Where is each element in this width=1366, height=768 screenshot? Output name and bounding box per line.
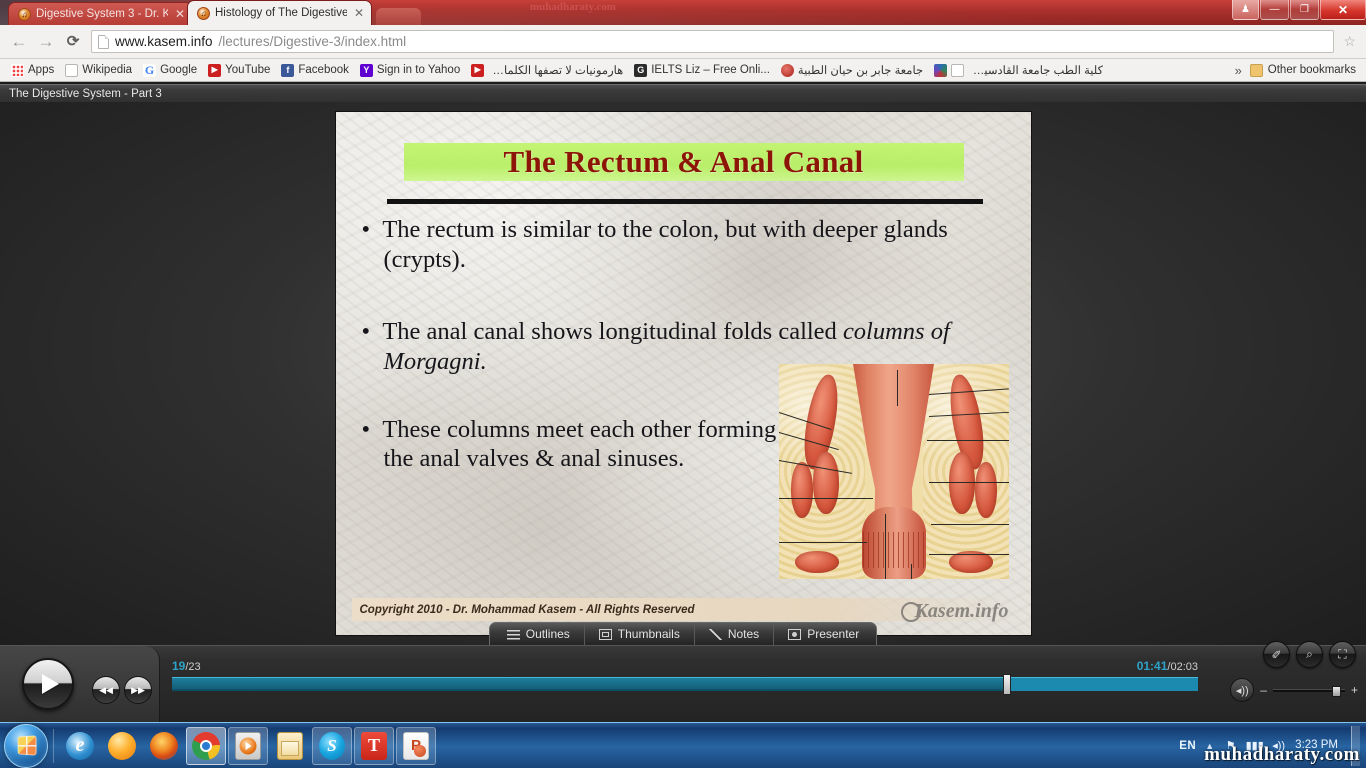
columns-of-morgagni xyxy=(863,532,925,568)
tab-label: Notes xyxy=(728,627,759,641)
leader-line xyxy=(911,564,912,579)
tab-presenter[interactable]: Presenter xyxy=(774,623,873,645)
window-controls: ♟ — ❐ ✕ xyxy=(1231,0,1366,20)
reload-icon[interactable]: ⟳ xyxy=(64,33,82,51)
apps-grid-icon xyxy=(11,64,24,77)
tab-favicon: ♫ xyxy=(18,8,31,21)
volume-down-icon[interactable]: – xyxy=(1260,684,1267,696)
slide-total: /23 xyxy=(185,661,200,673)
address-bar[interactable]: www.kasem.info/lectures/Digestive-3/inde… xyxy=(91,30,1334,53)
volume-control: ◂)) – + xyxy=(1230,678,1358,702)
browser-tab-2[interactable]: ♫ Histology of The Digestive ✕ xyxy=(187,0,372,25)
leader-line xyxy=(931,524,1009,525)
multicolor-icon xyxy=(934,64,947,77)
bookmark-label: Google xyxy=(160,64,197,76)
bullet-1: The rectum is similar to the colon, but … xyxy=(362,215,1007,275)
seek-bar[interactable] xyxy=(172,677,1198,691)
seek-handle[interactable] xyxy=(1003,674,1011,695)
bookmarks-overflow-icon[interactable]: » xyxy=(1228,63,1249,78)
page-icon xyxy=(951,64,964,77)
external-sphincter-left xyxy=(795,551,839,573)
leader-line xyxy=(929,482,1009,483)
internet-explorer-icon[interactable] xyxy=(60,727,100,765)
time-total: /02:03 xyxy=(1167,661,1198,673)
logo-text: Kasem.info xyxy=(915,600,1009,623)
time-counter: 01:41/02:03 xyxy=(1137,659,1198,673)
bullet-3: These columns meet each other forming th… xyxy=(362,415,777,475)
bookmark-label: Wikipedia xyxy=(82,64,132,76)
fullscreen-button[interactable]: ⛶ xyxy=(1329,641,1356,668)
t-app-icon[interactable]: T xyxy=(354,727,394,765)
time-current: 01:41 xyxy=(1137,659,1168,673)
back-icon[interactable]: ← xyxy=(10,33,28,51)
browser-window: ♫ Digestive System 3 - Dr. K ✕ ♫ Histolo… xyxy=(0,0,1366,768)
bookmark-harmoniyat[interactable]: ▶ هارمونيات لا تصفها الكلمات... xyxy=(466,61,628,79)
youtube-icon: ▶ xyxy=(208,64,221,77)
folder-icon xyxy=(1250,64,1263,77)
tab-label: Thumbnails xyxy=(618,627,680,641)
tab-thumbnails[interactable]: Thumbnails xyxy=(585,623,695,645)
bookmark-star-icon[interactable]: ☆ xyxy=(1343,33,1356,50)
player-tools-area: ✐ ⌕ ⛶ ◂)) – + xyxy=(1198,646,1366,723)
slide-counter: 19/23 xyxy=(172,659,201,673)
forward-icon: ▶▶ xyxy=(131,685,145,696)
bookmark-label: YouTube xyxy=(225,64,270,76)
bookmark-youtube[interactable]: ▶ YouTube xyxy=(203,62,275,79)
leader-line xyxy=(885,514,886,579)
bookmark-label: جامعة جابر بن حيان الطبية xyxy=(798,63,923,77)
new-tab-button[interactable] xyxy=(376,8,421,25)
orange-browser-icon[interactable] xyxy=(102,727,142,765)
zoom-tool-button[interactable]: ⌕ xyxy=(1296,641,1323,668)
seek-progress xyxy=(172,678,1003,691)
volume-up-icon[interactable]: + xyxy=(1351,684,1358,696)
close-icon[interactable]: ✕ xyxy=(173,7,185,21)
slide-viewer: The Rectum & Anal Canal The rectum is si… xyxy=(0,102,1366,645)
close-window-button[interactable]: ✕ xyxy=(1320,0,1366,20)
windows-taskbar: S T P EN ▲ ⚑ ▮▮▮ ◂)) 3:23 PM xyxy=(0,722,1366,768)
pointer-tool-button[interactable]: ✐ xyxy=(1263,641,1290,668)
sphincter-right-outer xyxy=(975,462,997,518)
bookmark-label: Apps xyxy=(28,64,54,76)
google-g-icon: G xyxy=(143,64,156,77)
sphincter-left-outer xyxy=(791,462,813,518)
leader-line xyxy=(779,542,867,543)
tab-label: Presenter xyxy=(807,627,859,641)
page-title: The Digestive System - Part 3 xyxy=(9,88,162,100)
speaker-icon[interactable]: ◂)) xyxy=(1230,678,1254,702)
bookmarks-bar: Apps Wikipedia G Google ▶ YouTube f Face… xyxy=(0,59,1366,82)
page-icon xyxy=(65,64,78,77)
volume-handle[interactable] xyxy=(1332,686,1341,697)
tab-title: Histology of The Digestive xyxy=(215,7,347,19)
page-info-icon[interactable] xyxy=(98,35,109,49)
forward-icon[interactable]: → xyxy=(37,33,55,51)
bookmark-label: IELTS Liz – Free Onli... xyxy=(651,64,770,76)
play-button[interactable] xyxy=(22,658,74,710)
title-divider xyxy=(387,199,983,204)
skype-icon[interactable]: S xyxy=(312,727,352,765)
bookmark-google[interactable]: G Google xyxy=(138,62,202,79)
player-transport: ◀◀ ▶▶ xyxy=(0,646,160,723)
play-icon xyxy=(42,674,59,694)
rewind-icon: ◀◀ xyxy=(99,685,113,696)
tab-notes[interactable]: Notes xyxy=(695,623,774,645)
bullet-2-text: The anal canal shows longitudinal folds … xyxy=(382,318,843,345)
tab-title: Digestive System 3 - Dr. K xyxy=(36,8,168,20)
facebook-icon: f xyxy=(281,64,294,77)
pencil-icon xyxy=(709,629,722,640)
language-indicator[interactable]: EN xyxy=(1179,740,1196,752)
presentation-header: The Digestive System - Part 3 xyxy=(0,84,1366,102)
leader-line xyxy=(779,498,873,499)
bookmark-jabir-university[interactable]: جامعة جابر بن حيان الطبية xyxy=(776,61,928,79)
next-slide-button[interactable]: ▶▶ xyxy=(124,676,152,704)
maximize-button[interactable]: ❐ xyxy=(1290,0,1319,20)
leader-line xyxy=(897,370,898,406)
bookmark-yahoo[interactable]: Y Sign in to Yahoo xyxy=(355,62,465,79)
thumbnail-icon xyxy=(599,629,612,640)
user-profile-icon[interactable]: ♟ xyxy=(1232,0,1259,20)
chrome-icon[interactable] xyxy=(186,727,226,765)
file-explorer-icon[interactable] xyxy=(270,727,310,765)
bookmark-label: Sign in to Yahoo xyxy=(377,64,460,76)
presenter-icon xyxy=(788,629,801,640)
url-host: www.kasem.info xyxy=(115,34,213,49)
powerpoint-icon[interactable]: P xyxy=(396,727,436,765)
bookmark-qadisiyah-medicine[interactable]: كلية الطب جامعة القادسية |... xyxy=(929,61,1108,79)
slide: The Rectum & Anal Canal The rectum is si… xyxy=(335,111,1032,636)
list-icon xyxy=(507,629,520,640)
close-icon[interactable]: ✕ xyxy=(352,6,364,20)
youtube-icon: ▶ xyxy=(471,64,484,77)
windows-logo-icon xyxy=(17,735,36,755)
bookmark-ielts-liz[interactable]: G IELTS Liz – Free Onli... xyxy=(629,62,775,79)
ielts-icon: G xyxy=(634,64,647,77)
site-watermark: muhadharaty.com xyxy=(1204,744,1360,766)
bookmark-label: كلية الطب جامعة القادسية |... xyxy=(968,63,1103,77)
previous-slide-button[interactable]: ◀◀ xyxy=(92,676,120,704)
tab-outlines[interactable]: Outlines xyxy=(493,623,585,645)
bookmark-label: Facebook xyxy=(298,64,349,76)
browser-toolbar: ← → ⟳ www.kasem.info/lectures/Digestive-… xyxy=(0,25,1366,59)
taskbar-divider xyxy=(53,729,54,763)
firefox-icon[interactable] xyxy=(144,727,184,765)
slide-current: 19 xyxy=(172,659,185,673)
volume-slider[interactable] xyxy=(1273,689,1345,692)
top-watermark: muhadharaty.com xyxy=(530,1,616,13)
leader-line xyxy=(927,440,1009,441)
other-bookmarks-button[interactable]: Other bookmarks xyxy=(1250,64,1360,77)
start-button[interactable] xyxy=(4,724,48,768)
tab-label: Outlines xyxy=(526,627,570,641)
other-bookmarks-label: Other bookmarks xyxy=(1268,64,1356,76)
minimize-button[interactable]: — xyxy=(1260,0,1289,20)
anal-canal-diagram-image xyxy=(779,364,1009,579)
url-path: /lectures/Digestive-3/index.html xyxy=(219,34,407,49)
tab-strip: ♫ Digestive System 3 - Dr. K ✕ ♫ Histolo… xyxy=(0,0,1366,25)
copyright-text: Copyright 2010 - Dr. Mohammad Kasem - Al… xyxy=(352,604,695,616)
tool-buttons: ✐ ⌕ ⛶ xyxy=(1263,641,1356,668)
kasem-info-logo: Kasem.info xyxy=(901,600,1009,623)
bookmark-facebook[interactable]: f Facebook xyxy=(276,62,354,79)
bookmark-label: هارمونيات لا تصفها الكلمات... xyxy=(488,63,623,77)
sphincter-left-inner xyxy=(813,452,839,514)
leader-line xyxy=(929,554,1009,555)
sphincter-right-inner xyxy=(949,452,975,514)
player-progress-area: 19/23 01:41/02:03 xyxy=(172,646,1198,723)
bookmark-apps[interactable]: Apps xyxy=(6,62,59,79)
page-content: The Digestive System - Part 3 The Rectum… xyxy=(0,84,1366,722)
viewer-tabs-group: Outlines Thumbnails Notes Presenter xyxy=(489,622,877,645)
bookmark-wikipedia[interactable]: Wikipedia xyxy=(60,62,137,79)
yahoo-icon: Y xyxy=(360,64,373,77)
browser-tab-1[interactable]: ♫ Digestive System 3 - Dr. K ✕ xyxy=(8,2,193,25)
tab-favicon: ♫ xyxy=(197,7,210,20)
red-seal-icon xyxy=(781,64,794,77)
slide-title: The Rectum & Anal Canal xyxy=(404,138,964,186)
player-bar: ◀◀ ▶▶ 19/23 01:41/02:03 xyxy=(0,645,1366,722)
media-player-icon[interactable] xyxy=(228,727,268,765)
